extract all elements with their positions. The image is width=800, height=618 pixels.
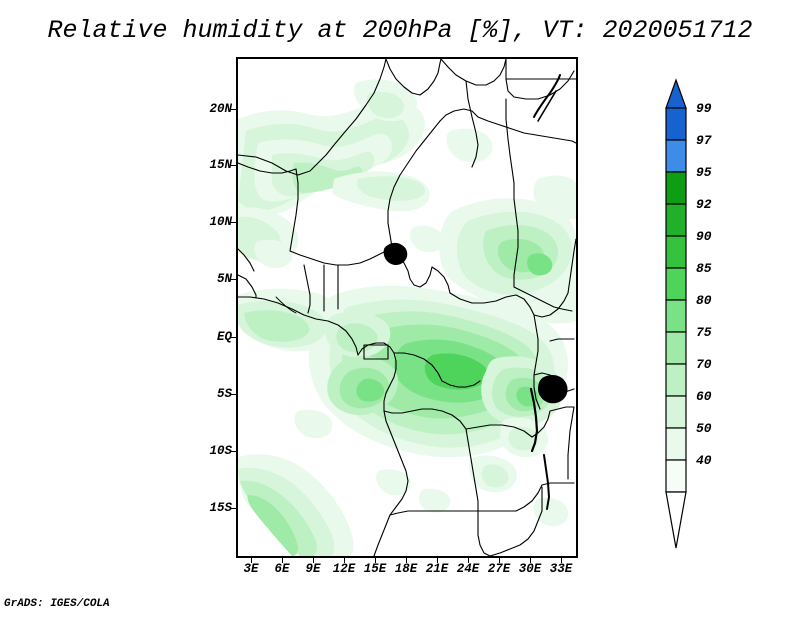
colorbar-tick-97: 97	[696, 134, 712, 147]
y-tick-mark-eq	[231, 337, 236, 338]
colorbar-band-92	[666, 204, 686, 236]
colorbar-band-40	[666, 460, 686, 492]
y-tick-mark-20n	[231, 109, 236, 110]
x-tick-label-24e: 24E	[451, 562, 485, 576]
x-tick-label-21e: 21E	[420, 562, 454, 576]
y-tick-label-15n: 15N	[192, 158, 232, 172]
colorbar-top-arrow	[666, 80, 686, 108]
page-title: Relative humidity at 200hPa [%], VT: 202…	[0, 16, 800, 45]
colorbar-tick-60: 60	[696, 390, 712, 403]
colorbar-bottom-arrow	[666, 492, 686, 548]
colorbar-tick-99: 99	[696, 102, 712, 115]
y-tick-label-eq: EQ	[192, 330, 232, 344]
colorbar-tick-80: 80	[696, 294, 712, 307]
colorbar-band-75	[666, 332, 686, 364]
colorbar-band-90	[666, 236, 686, 268]
map-plot-area	[236, 57, 578, 558]
colorbar-tick-70: 70	[696, 358, 712, 371]
x-tick-label-9e: 9E	[296, 562, 330, 576]
colorbar-tick-92: 92	[696, 198, 712, 211]
x-tick-label-15e: 15E	[358, 562, 392, 576]
map-canvas	[238, 59, 576, 556]
x-tick-label-12e: 12E	[327, 562, 361, 576]
y-tick-label-20n: 20N	[192, 102, 232, 116]
x-tick-label-27e: 27E	[482, 562, 516, 576]
y-tick-mark-15n	[231, 165, 236, 166]
y-tick-label-10s: 10S	[192, 444, 232, 458]
colorbar-band-50	[666, 428, 686, 460]
colorbar: 99 97 95 92 90 85 80 75 70 60 50 40	[664, 78, 704, 553]
y-tick-label-5n: 5N	[192, 272, 232, 286]
colorbar-band-70	[666, 364, 686, 396]
y-tick-mark-15s	[231, 508, 236, 509]
colorbar-tick-40: 40	[696, 454, 712, 467]
y-tick-mark-5s	[231, 394, 236, 395]
colorbar-tick-95: 95	[696, 166, 712, 179]
y-tick-mark-10s	[231, 451, 236, 452]
colorbar-band-95	[666, 172, 686, 204]
colorbar-band-80	[666, 300, 686, 332]
colorbar-canvas	[664, 78, 704, 553]
y-tick-label-5s: 5S	[192, 387, 232, 401]
x-tick-label-33e: 33E	[544, 562, 578, 576]
x-tick-label-6e: 6E	[265, 562, 299, 576]
colorbar-band-60	[666, 396, 686, 428]
colorbar-band-85	[666, 268, 686, 300]
y-tick-label-15s: 15S	[192, 501, 232, 515]
x-tick-label-30e: 30E	[513, 562, 547, 576]
x-tick-label-18e: 18E	[389, 562, 423, 576]
y-tick-mark-5n	[231, 279, 236, 280]
x-tick-label-3e: 3E	[234, 562, 268, 576]
y-tick-mark-10n	[231, 222, 236, 223]
colorbar-band-97	[666, 140, 686, 172]
y-tick-label-10n: 10N	[192, 215, 232, 229]
colorbar-tick-85: 85	[696, 262, 712, 275]
colorbar-tick-90: 90	[696, 230, 712, 243]
colorbar-tick-75: 75	[696, 326, 712, 339]
colorbar-tick-50: 50	[696, 422, 712, 435]
grads-attribution: GrADS: IGES/COLA	[4, 598, 110, 610]
colorbar-band-99	[666, 108, 686, 140]
